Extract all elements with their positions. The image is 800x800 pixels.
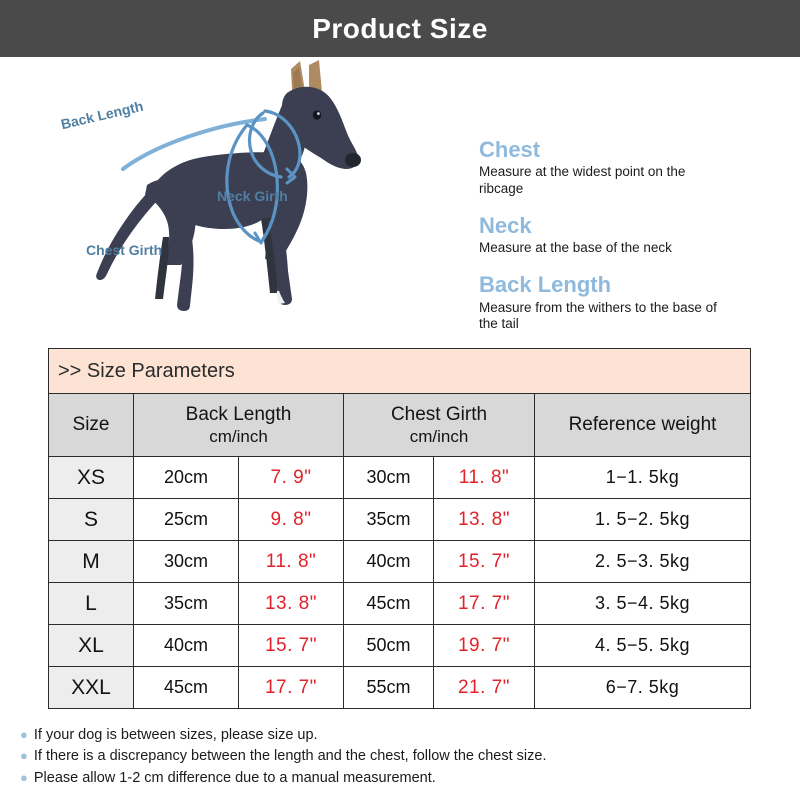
cell-chest-inch: 19. 7" (434, 625, 535, 667)
guide-heading-chest: Chest (479, 137, 779, 162)
bullet-icon: ● (20, 749, 28, 762)
cell-chest-cm: 55cm (344, 667, 434, 709)
cell-back-inch: 17. 7" (239, 667, 344, 709)
guide-item-neck: Neck Measure at the base of the neck (479, 213, 779, 257)
table-row: M 30cm 11. 8" 40cm 15. 7" 2. 5−3. 5kg (49, 541, 751, 583)
bullet-icon: ● (20, 728, 28, 741)
table-row: XS 20cm 7. 9" 30cm 11. 8" 1−1. 5kg (49, 457, 751, 499)
cell-chest-cm: 45cm (344, 583, 434, 625)
column-header-back-length-title: Back Length (186, 404, 292, 425)
footnote-text: Please allow 1-2 cm difference due to a … (34, 770, 436, 787)
guide-description-chest: Measure at the widest point on the ribca… (479, 164, 729, 198)
cell-back-inch: 9. 8" (239, 499, 344, 541)
banner-label: >> Size Parameters (58, 360, 235, 382)
table-row: XXL 45cm 17. 7" 55cm 21. 7" 6−7. 5kg (49, 667, 751, 709)
footnote-text: If your dog is between sizes, please siz… (34, 727, 318, 744)
table-row: XL 40cm 15. 7" 50cm 19. 7" 4. 5−5. 5kg (49, 625, 751, 667)
cell-weight: 2. 5−3. 5kg (535, 541, 751, 583)
page-header: Product Size (0, 0, 800, 57)
cell-back-inch: 7. 9" (239, 457, 344, 499)
cell-chest-inch: 11. 8" (434, 457, 535, 499)
cell-back-cm: 25cm (134, 499, 239, 541)
cell-chest-cm: 35cm (344, 499, 434, 541)
cell-chest-cm: 40cm (344, 541, 434, 583)
cell-size: S (49, 499, 134, 541)
cell-back-cm: 30cm (134, 541, 239, 583)
cell-back-cm: 35cm (134, 583, 239, 625)
footnote-item: ● If there is a discrepancy between the … (20, 748, 780, 765)
cell-size: XL (49, 625, 134, 667)
column-header-chest-girth: Chest Girth cm/inch (344, 394, 535, 457)
guide-description-neck: Measure at the base of the neck (479, 240, 729, 257)
footnote-item: ● If your dog is between sizes, please s… (20, 727, 780, 744)
guide-item-back-length: Back Length Measure from the withers to … (479, 272, 779, 333)
guide-heading-neck: Neck (479, 213, 779, 238)
size-table-container: >> Size Parameters Size Back Length cm/i… (48, 348, 750, 709)
cell-chest-inch: 17. 7" (434, 583, 535, 625)
table-row: L 35cm 13. 8" 45cm 17. 7" 3. 5−4. 5kg (49, 583, 751, 625)
footnote-text: If there is a discrepancy between the le… (34, 748, 547, 765)
size-parameters-banner: >> Size Parameters (49, 349, 751, 394)
column-header-back-length-unit: cm/inch (134, 426, 343, 447)
size-parameters-table: >> Size Parameters Size Back Length cm/i… (48, 348, 751, 709)
cell-size: XS (49, 457, 134, 499)
footnotes: ● If your dog is between sizes, please s… (20, 727, 780, 791)
cell-back-inch: 11. 8" (239, 541, 344, 583)
cell-weight: 6−7. 5kg (535, 667, 751, 709)
cell-size: XXL (49, 667, 134, 709)
diagram-label-neck-girth: Neck Girth (217, 188, 288, 204)
cell-weight: 3. 5−4. 5kg (535, 583, 751, 625)
measurement-illustration: Back Length Neck Girth Chest Girth Chest… (0, 57, 800, 335)
column-header-reference-weight: Reference weight (535, 394, 751, 457)
table-row: S 25cm 9. 8" 35cm 13. 8" 1. 5−2. 5kg (49, 499, 751, 541)
guide-item-chest: Chest Measure at the widest point on the… (479, 137, 779, 198)
column-header-chest-girth-title: Chest Girth (391, 404, 487, 425)
column-header-back-length: Back Length cm/inch (134, 394, 344, 457)
column-header-size: Size (49, 394, 134, 457)
page-title: Product Size (312, 13, 488, 45)
measurement-guide: Chest Measure at the widest point on the… (479, 137, 779, 333)
cell-chest-cm: 50cm (344, 625, 434, 667)
cell-weight: 1−1. 5kg (535, 457, 751, 499)
table-header-row: Size Back Length cm/inch Chest Girth cm/… (49, 394, 751, 457)
cell-chest-inch: 15. 7" (434, 541, 535, 583)
column-header-chest-girth-unit: cm/inch (344, 426, 534, 447)
cell-back-inch: 13. 8" (239, 583, 344, 625)
dog-illustration-icon (95, 57, 395, 317)
footnote-item: ● Please allow 1-2 cm difference due to … (20, 770, 780, 787)
cell-back-cm: 40cm (134, 625, 239, 667)
cell-chest-inch: 13. 8" (434, 499, 535, 541)
guide-heading-back-length: Back Length (479, 272, 779, 297)
cell-back-cm: 45cm (134, 667, 239, 709)
table-banner-row: >> Size Parameters (49, 349, 751, 394)
cell-size: L (49, 583, 134, 625)
cell-back-cm: 20cm (134, 457, 239, 499)
cell-weight: 4. 5−5. 5kg (535, 625, 751, 667)
cell-weight: 1. 5−2. 5kg (535, 499, 751, 541)
bullet-icon: ● (20, 771, 28, 784)
cell-chest-inch: 21. 7" (434, 667, 535, 709)
cell-back-inch: 15. 7" (239, 625, 344, 667)
cell-size: M (49, 541, 134, 583)
diagram-label-chest-girth: Chest Girth (86, 242, 162, 258)
guide-description-back-length: Measure from the withers to the base of … (479, 300, 729, 334)
cell-chest-cm: 30cm (344, 457, 434, 499)
